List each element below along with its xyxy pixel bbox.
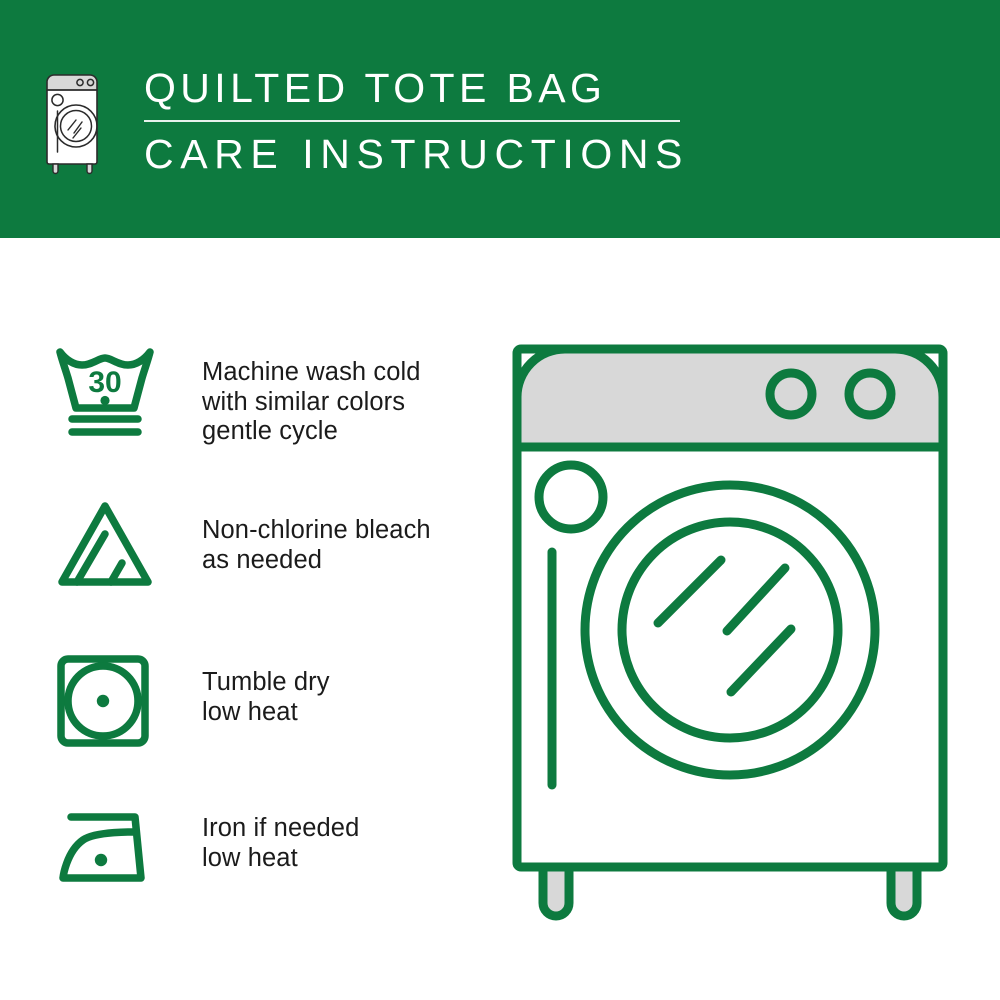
care-line: low heat bbox=[202, 844, 359, 874]
care-row-machine-wash: 30 Machine wash cold with similar colors… bbox=[52, 338, 472, 488]
page-title-primary: QUILTED TOTE BAG bbox=[144, 62, 689, 114]
care-text-iron: Iron if needed low heat bbox=[202, 788, 359, 873]
care-text-tumble-dry: Tumble dry low heat bbox=[202, 638, 330, 727]
care-line: gentle cycle bbox=[202, 417, 421, 447]
tumble-dry-low-heat-icon bbox=[52, 638, 158, 744]
care-text-machine-wash: Machine wash cold with similar colors ge… bbox=[202, 338, 421, 447]
care-row-tumble-dry: Tumble dry low heat bbox=[52, 638, 472, 788]
care-line: with similar colors bbox=[202, 388, 421, 418]
header-content: QUILTED TOTE BAG CARE INSTRUCTIONS bbox=[44, 62, 689, 178]
washing-machine-icon bbox=[44, 70, 106, 176]
care-line: as needed bbox=[202, 546, 431, 576]
header-banner: QUILTED TOTE BAG CARE INSTRUCTIONS bbox=[0, 0, 1000, 238]
leg-right bbox=[891, 867, 917, 916]
iron-low-heat-icon bbox=[52, 788, 158, 894]
care-line: Machine wash cold bbox=[202, 358, 421, 388]
care-row-bleach: Non-chlorine bleach as needed bbox=[52, 488, 472, 638]
care-line: Non-chlorine bleach bbox=[202, 516, 431, 546]
page-title-secondary: CARE INSTRUCTIONS bbox=[144, 130, 689, 178]
wash-temperature-value: 30 bbox=[88, 366, 121, 399]
care-line: Iron if needed bbox=[202, 814, 359, 844]
care-row-iron: Iron if needed low heat bbox=[52, 788, 472, 938]
care-instruction-list: 30 Machine wash cold with similar colors… bbox=[52, 338, 472, 938]
care-line: Tumble dry bbox=[202, 668, 330, 698]
front-load-washing-machine-illustration bbox=[495, 335, 965, 925]
care-instructions-page: QUILTED TOTE BAG CARE INSTRUCTIONS 3 bbox=[0, 0, 1000, 1000]
care-line: low heat bbox=[202, 698, 330, 728]
control-panel bbox=[517, 349, 943, 447]
machine-wash-tub-30-icon: 30 bbox=[52, 338, 158, 444]
care-text-bleach: Non-chlorine bleach as needed bbox=[202, 488, 431, 575]
title-divider bbox=[144, 120, 680, 122]
non-chlorine-bleach-triangle-icon bbox=[52, 488, 158, 594]
header-title-block: QUILTED TOTE BAG CARE INSTRUCTIONS bbox=[144, 62, 689, 178]
leg-left bbox=[543, 867, 569, 916]
